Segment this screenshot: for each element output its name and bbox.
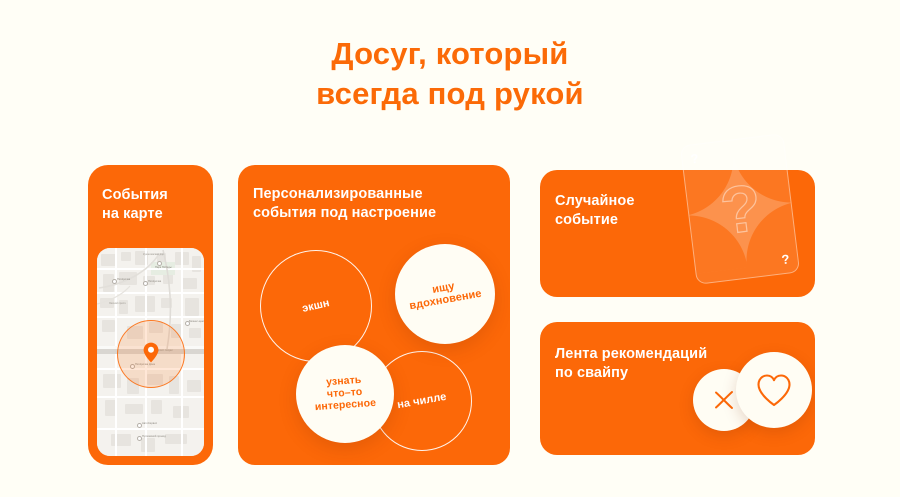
question-card-icon: ? ? ? [680, 133, 800, 285]
card-personalized-events[interactable]: Персонализированные события под настроен… [238, 165, 510, 465]
map-street-label: Кушелевская дор. [143, 253, 165, 256]
map-street-label: Лесной просп. [109, 302, 126, 305]
map-poi-label: Пулковский проезд [142, 435, 166, 438]
phone-screen-map[interactable]: просп. Науки Лесной просп. Кушелевская д… [97, 248, 204, 456]
card-events-on-map[interactable]: События на карте [88, 165, 213, 465]
promo-banner: Досуг, который всегда под рукой События … [0, 0, 900, 497]
question-mark-top-left: ? [690, 152, 699, 166]
heart-icon[interactable] [736, 352, 812, 428]
map-poi-label: Бизнес-центр [189, 320, 204, 323]
mood-bubble-label: на чилле [396, 391, 447, 412]
map-poi-label: АвтоСервис [142, 422, 157, 425]
card-title-swipe-feed: Лента рекомендаций по свайпу [555, 345, 707, 383]
card-title-events-on-map: События на карте [102, 186, 168, 224]
map-poi-label: Парк Победы [155, 266, 172, 269]
headline-line-2: всегда под рукой [0, 74, 900, 114]
mood-bubble-label: ищу вдохновение [407, 275, 483, 312]
mood-bubble-inspiration[interactable]: ищу вдохновение [395, 244, 495, 344]
map-canvas[interactable]: просп. Науки Лесной просп. Кушелевская д… [97, 248, 204, 456]
headline-line-1: Досуг, который [0, 34, 900, 74]
map-poi-label: Пятёрочка [117, 278, 130, 281]
mood-bubble-label: экшн [301, 297, 331, 315]
mood-bubble-label: узнать что–то интересное [313, 374, 377, 414]
card-title-random-event: Случайное событие [555, 192, 635, 230]
page-title: Досуг, который всегда под рукой [0, 34, 900, 114]
location-pin-icon[interactable] [143, 342, 159, 363]
map-poi-label: Пятёрочка [148, 280, 161, 283]
card-title-personalized-events: Персонализированные события под настроен… [253, 185, 436, 223]
question-mark-bottom-right: ? [781, 252, 790, 266]
mood-bubble-learn-something[interactable]: узнать что–то интересное [296, 345, 394, 443]
card-swipe-feed[interactable]: Лента рекомендаций по свайпу [540, 322, 815, 455]
question-mark-large: ? [685, 163, 798, 255]
